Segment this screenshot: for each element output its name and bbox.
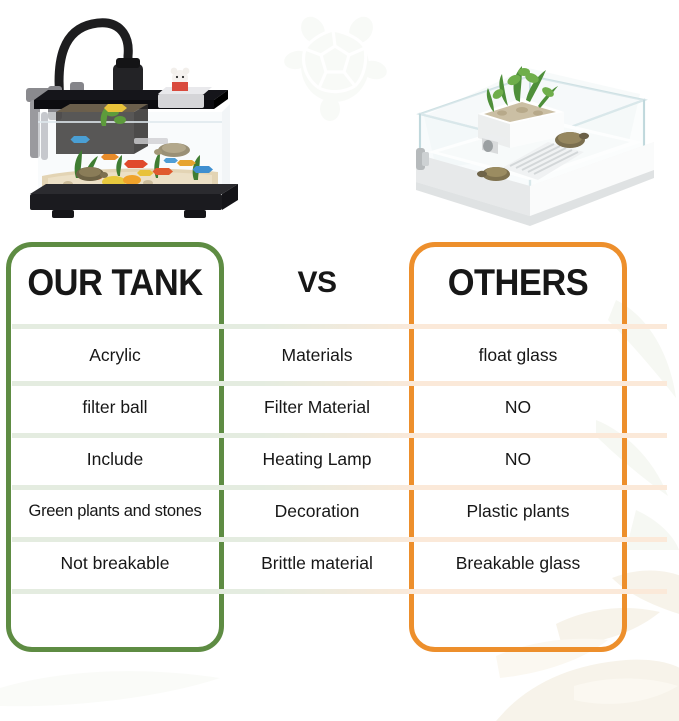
comparison-table: OUR TANK VS OTHERS Acrylic Materials flo… (0, 242, 679, 662)
others-tank-photo (398, 50, 670, 236)
cell-other-value: Breakable glass (413, 537, 623, 589)
header-our-tank: OUR TANK (17, 242, 212, 324)
cell-other-value: float glass (413, 329, 623, 381)
cell-feature-label: Filter Material (228, 381, 406, 433)
cell-feature-label: Brittle material (228, 537, 406, 589)
table-row: Not breakable Brittle material Breakable… (0, 537, 679, 589)
cell-feature-label: Materials (228, 329, 406, 381)
table-row: Include Heating Lamp NO (0, 433, 679, 485)
cell-feature-label: Heating Lamp (228, 433, 406, 485)
table-row: Acrylic Materials float glass (0, 329, 679, 381)
cell-our-value: Include (10, 433, 220, 485)
table-row: Green plants and stones Decoration Plast… (0, 485, 679, 537)
cell-other-value: NO (413, 381, 623, 433)
cell-our-value: filter ball (10, 381, 220, 433)
header-others: OTHERS (420, 242, 615, 324)
cell-other-value: NO (413, 433, 623, 485)
cell-other-value: Plastic plants (413, 485, 623, 537)
row-separator (12, 589, 667, 594)
comparison-rows: OUR TANK VS OTHERS Acrylic Materials flo… (0, 242, 679, 662)
table-row: filter ball Filter Material NO (0, 381, 679, 433)
cell-our-value: Green plants and stones (10, 485, 220, 537)
header-versus: VS (228, 242, 406, 324)
cell-our-value: Not breakable (10, 537, 220, 589)
product-photos (0, 0, 679, 242)
cell-feature-label: Decoration (228, 485, 406, 537)
comparison-header-row: OUR TANK VS OTHERS (0, 242, 679, 324)
cell-our-value: Acrylic (10, 329, 220, 381)
our-tank-photo (8, 8, 280, 236)
